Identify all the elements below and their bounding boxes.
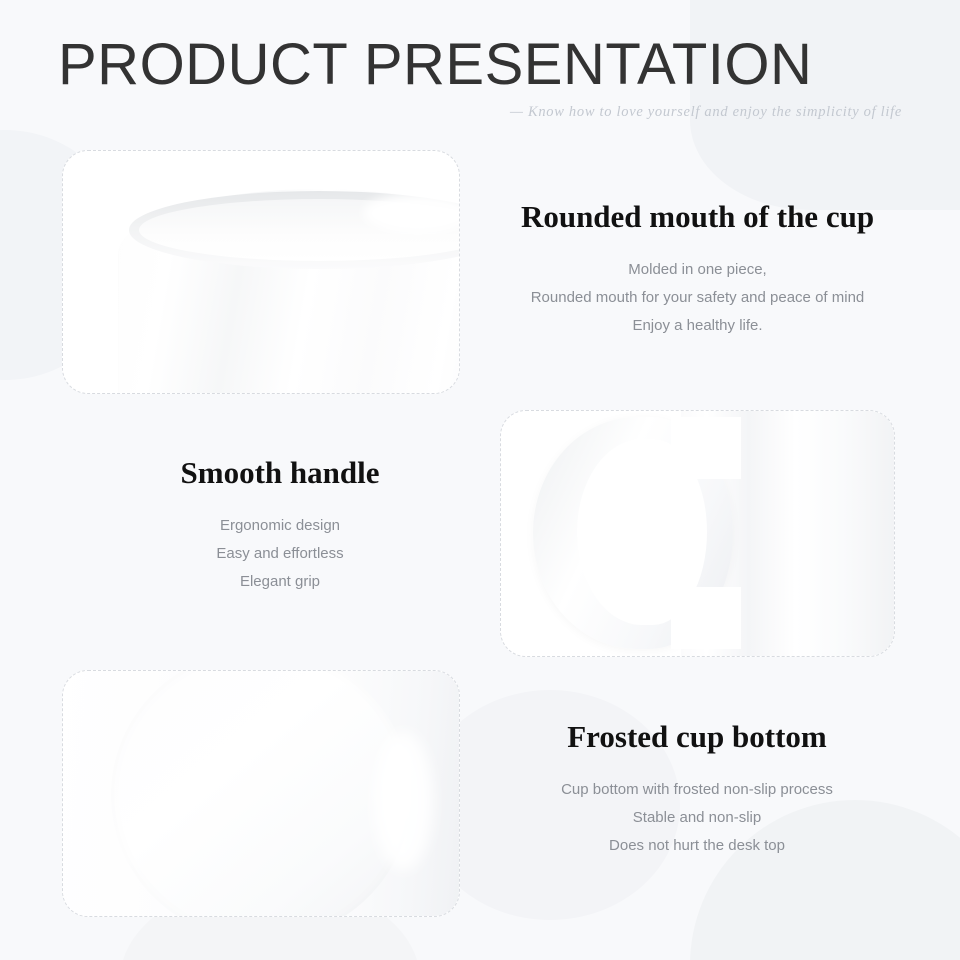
feature-text-rounded-mouth: Rounded mouth of the cup Molded in one p… [485,200,910,340]
feature-heading-rounded-mouth: Rounded mouth of the cup [485,200,910,234]
feature-line: Cup bottom with frosted non-slip process [538,776,856,804]
mug-handle-image [501,411,894,656]
product-presentation-page: PRODUCT PRESENTATION — Know how to love … [0,0,960,960]
mug-bottom-disc [111,671,411,916]
feature-line: Ergonomic design [160,512,400,540]
handle-bottom-junction [671,587,741,649]
feature-line: Molded in one piece, [485,256,910,284]
page-title: PRODUCT PRESENTATION [58,36,812,94]
feature-line: Does not hurt the desk top [538,832,856,860]
mug-bottom-highlight [373,731,433,871]
page-subtitle: — Know how to love yourself and enjoy th… [510,104,902,121]
feature-line: Easy and effortless [160,540,400,568]
handle-top-junction [671,417,741,479]
feature-line: Elegant grip [160,568,400,596]
feature-heading-smooth-handle: Smooth handle [160,456,400,490]
feature-description-frosted-bottom: Cup bottom with frosted non-slip process… [538,776,856,860]
feature-heading-frosted-bottom: Frosted cup bottom [538,720,856,754]
product-photo-card-rounded-mouth [62,150,460,394]
feature-text-frosted-bottom: Frosted cup bottom Cup bottom with frost… [538,720,856,860]
feature-line: Stable and non-slip [538,804,856,832]
feature-description-smooth-handle: Ergonomic design Easy and effortless Ele… [160,512,400,596]
feature-line: Enjoy a healthy life. [485,312,910,340]
product-photo-card-smooth-handle [500,410,895,657]
mug-rim-image [63,151,459,393]
product-photo-card-frosted-bottom [62,670,460,917]
page-header: PRODUCT PRESENTATION — Know how to love … [0,0,960,135]
feature-text-smooth-handle: Smooth handle Ergonomic design Easy and … [160,456,400,596]
feature-line: Rounded mouth for your safety and peace … [485,284,910,312]
feature-description-rounded-mouth: Molded in one piece, Rounded mouth for y… [485,256,910,340]
mug-bottom-image [63,671,459,916]
